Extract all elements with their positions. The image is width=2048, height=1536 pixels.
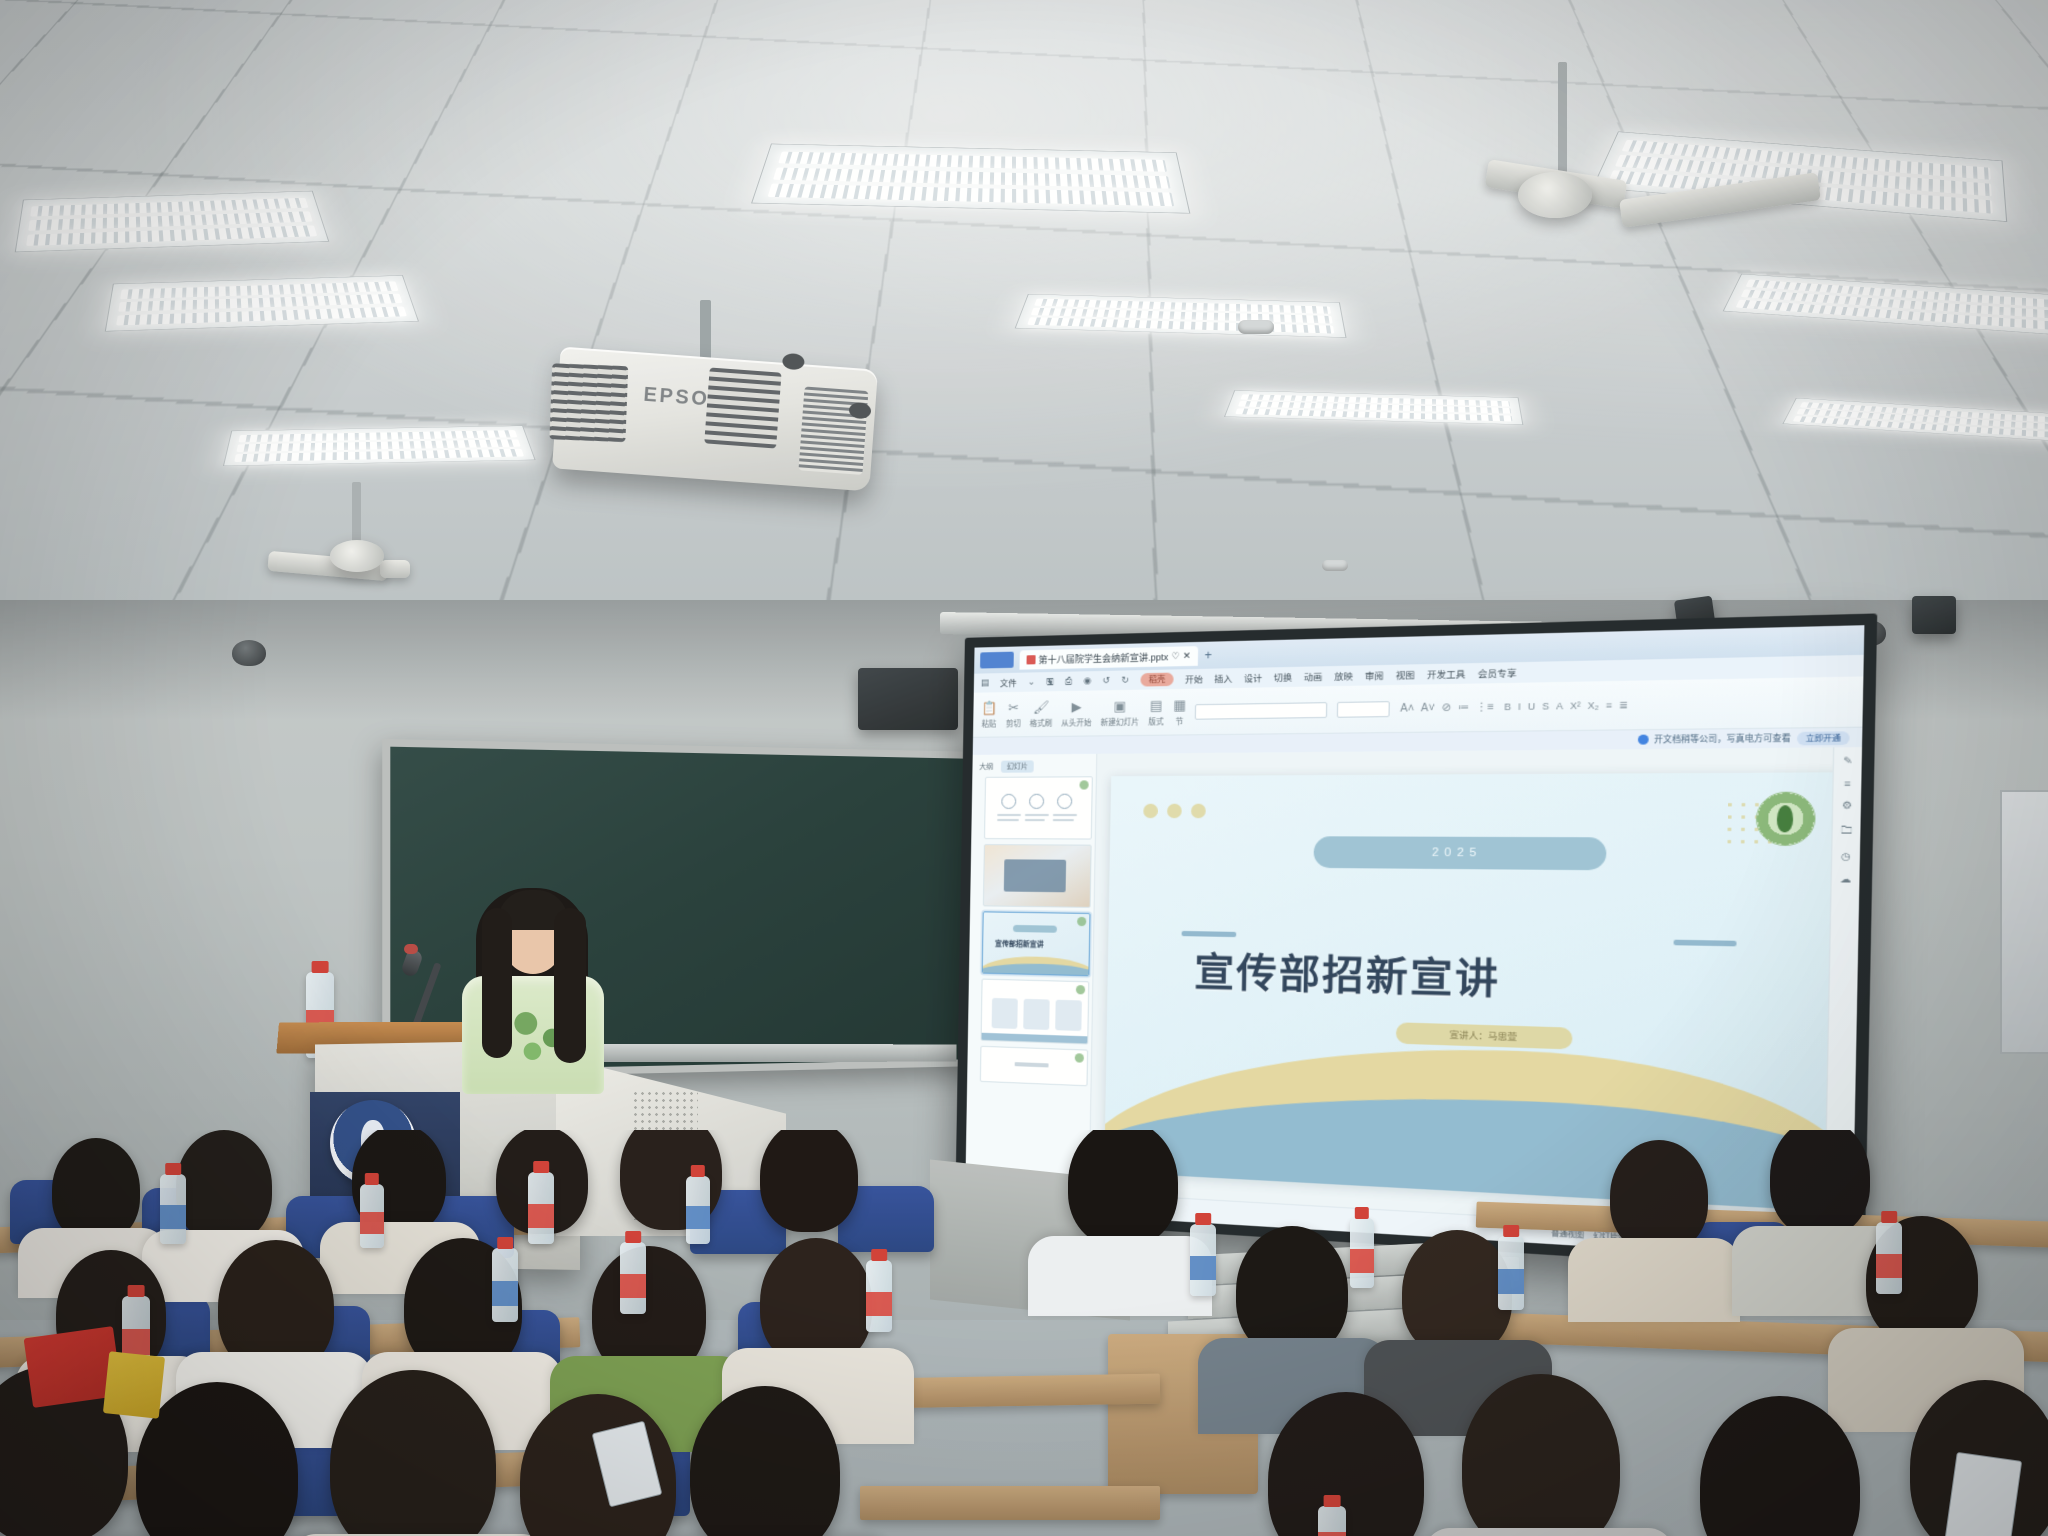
ribbon-paste[interactable]: 📋 粘贴 xyxy=(981,700,997,729)
audience-head-2 xyxy=(176,1130,272,1242)
audience-head-24 xyxy=(1462,1374,1620,1536)
thumbnail-pane-header: 大纲 幻灯片 xyxy=(975,758,1093,777)
menu-item-5[interactable]: 动画 xyxy=(1304,670,1323,683)
microphone-windscreen xyxy=(404,944,418,954)
heart-icon[interactable]: ♡ xyxy=(1171,650,1180,662)
bottle-cap-8 xyxy=(1195,1213,1211,1225)
thumb-col-2 xyxy=(1023,999,1049,1030)
new-tab-button[interactable]: + xyxy=(1204,648,1212,663)
menu-item-1[interactable]: 开始 xyxy=(1185,672,1203,685)
bottle-label-11 xyxy=(1876,1254,1902,1278)
bottle-label-8 xyxy=(1190,1256,1216,1280)
thumb-shape-a xyxy=(1001,794,1016,809)
align-left-icon[interactable]: ≡ xyxy=(1606,700,1612,711)
bullet-list-icon[interactable]: ≔ xyxy=(1458,701,1470,713)
tablet-front-desk[interactable] xyxy=(1944,1452,2022,1536)
thumb-logo-icon-10 xyxy=(1076,985,1085,994)
bottle-label-3 xyxy=(528,1204,554,1228)
ribbon-section[interactable]: ▦ 节 xyxy=(1173,697,1186,727)
pen-icon[interactable]: ✎ xyxy=(1843,755,1853,768)
folder-icon[interactable]: 🗀 xyxy=(1841,822,1853,840)
underline-button[interactable]: U xyxy=(1528,701,1536,712)
bottle-cap-7 xyxy=(128,1285,145,1297)
projector: EPSON xyxy=(552,347,878,492)
leaf-shape xyxy=(1777,805,1794,832)
clock-icon[interactable]: ◷ xyxy=(1841,851,1851,864)
notice-text: 开文档稍等公司，写真电方可查看 xyxy=(1654,732,1791,746)
ribbon-play-label: 从头开始 xyxy=(1061,717,1091,729)
bold-button[interactable]: B xyxy=(1504,701,1511,712)
subscript-button[interactable]: X₂ xyxy=(1588,700,1599,711)
bottle-label-10 xyxy=(1498,1269,1524,1294)
superscript-button[interactable]: X² xyxy=(1570,700,1581,711)
print-icon[interactable]: ⎙ xyxy=(1065,676,1072,687)
thumb-pill xyxy=(1013,925,1057,933)
ceiling-fan-hub-right xyxy=(1518,172,1592,218)
close-icon[interactable]: ✕ xyxy=(1183,650,1191,662)
info-icon xyxy=(1637,735,1648,745)
audience-torso-7 xyxy=(1028,1236,1212,1316)
water-bottle-3 xyxy=(528,1172,554,1244)
fan-blade-l2 xyxy=(380,560,410,578)
water-bottle-9 xyxy=(1350,1218,1374,1288)
thumb-shape-c xyxy=(1057,794,1072,809)
school-emblem-icon xyxy=(1755,792,1815,846)
water-bottle-2 xyxy=(360,1184,384,1248)
cloud-icon[interactable]: ☁ xyxy=(1840,873,1852,886)
water-bottle-4 xyxy=(686,1176,710,1244)
thumb-line-5 xyxy=(1053,814,1077,816)
strikethrough-button[interactable]: S xyxy=(1542,701,1549,712)
section-icon: ▦ xyxy=(1173,697,1186,714)
bottle-label-4 xyxy=(686,1206,710,1229)
font-color-button[interactable]: A xyxy=(1556,701,1563,712)
water-bottle-11 xyxy=(1876,1222,1902,1294)
thumb-line-2 xyxy=(997,819,1019,821)
title-dash-right xyxy=(1674,940,1737,947)
projector-foot-1 xyxy=(782,353,805,371)
wall-notice-board xyxy=(2000,790,2048,1054)
audience-area xyxy=(0,1130,2048,1536)
classroom-photo-scene: EPSON 第十八届院学生会纳新宣讲.pptx ♡ ✕ xyxy=(0,0,2048,1536)
increase-font-icon[interactable]: A˄ xyxy=(1400,702,1414,714)
ceiling-fan-hub-left xyxy=(330,540,384,572)
save-icon[interactable]: 🖫 xyxy=(1046,673,1054,689)
ribbon-layout[interactable]: ▤ 版式 xyxy=(1148,697,1164,727)
gear-icon[interactable]: ⚙ xyxy=(1842,800,1852,813)
slide-subtitle: 宣讲人：马思萱 xyxy=(1395,1022,1572,1049)
file-menu-icon[interactable]: ▤ xyxy=(981,677,990,688)
ribbon-brush-label: 格式刷 xyxy=(1030,717,1053,728)
ribbon-cut-label: 剪切 xyxy=(1006,718,1021,729)
projector-vent-mid xyxy=(704,367,781,448)
ribbon-new-slide[interactable]: ▣ 新建幻灯片 xyxy=(1100,697,1139,727)
outline-tab[interactable]: 大纲 xyxy=(979,762,993,772)
layout-icon: ▤ xyxy=(1150,697,1163,714)
presenter-hair-left xyxy=(482,908,512,1058)
bottle-label-7 xyxy=(122,1329,150,1355)
font-name-input[interactable] xyxy=(1195,702,1328,720)
menu-item-10[interactable]: 开发工具 xyxy=(1427,667,1466,681)
document-tab-title: 第十八届院学生会纳新宣讲.pptx xyxy=(1038,649,1168,665)
slide-decor-dots xyxy=(1143,803,1206,818)
audience-head-9 xyxy=(1770,1130,1870,1236)
bottle-label-5 xyxy=(620,1274,646,1298)
bottle-cap-10 xyxy=(1503,1225,1519,1237)
bottle-cap-12 xyxy=(871,1249,887,1261)
thumb-line-11 xyxy=(1015,1062,1049,1067)
menu-item-2[interactable]: 插入 xyxy=(1214,672,1232,685)
menu-item-0[interactable]: 文件 xyxy=(1000,676,1017,688)
bottle-cap-3 xyxy=(533,1161,549,1173)
thumb-quote-box xyxy=(1004,859,1066,892)
bottle-cap-11 xyxy=(1881,1211,1897,1223)
ribbon-layout-label: 版式 xyxy=(1148,716,1164,728)
print-preview-icon[interactable]: ◉ xyxy=(1083,675,1091,686)
bottle-cap-1 xyxy=(165,1163,181,1175)
bottle-label-1 xyxy=(160,1205,186,1229)
year-badge: 2025 xyxy=(1313,836,1606,870)
water-bottle-5 xyxy=(620,1242,646,1314)
clipboard-icon: 📋 xyxy=(981,700,997,716)
number-list-icon[interactable]: ⋮≡ xyxy=(1476,701,1494,713)
redo-icon[interactable]: ↻ xyxy=(1121,674,1129,685)
bottle-cap-6 xyxy=(497,1237,513,1249)
bottle-cap-5 xyxy=(625,1231,641,1243)
title-dash-left xyxy=(1181,931,1236,937)
wps-logo xyxy=(980,652,1014,669)
docer-button[interactable]: 稻壳 xyxy=(1140,673,1173,687)
ceiling-light-1 xyxy=(15,191,330,253)
new-slide-icon: ▣ xyxy=(1114,698,1127,715)
water-bottle-13 xyxy=(1318,1506,1346,1536)
audience-torso-8 xyxy=(1568,1238,1740,1322)
ribbon-brush[interactable]: 🖌 格式刷 xyxy=(1030,699,1053,729)
projector-vent-left xyxy=(549,363,628,442)
thumb-line-1 xyxy=(997,814,1021,816)
pptx-file-icon xyxy=(1027,655,1036,664)
slide-title: 宣传部招新宣讲 xyxy=(1194,940,1501,1005)
water-bottle-12 xyxy=(866,1260,892,1332)
thumb-logo-icon xyxy=(1079,780,1088,789)
audience-head-6 xyxy=(760,1130,858,1232)
desk-row-5 xyxy=(860,1486,1160,1520)
scissors-icon: ✂ xyxy=(1008,699,1019,715)
wall-speaker-far-right xyxy=(1912,596,1956,634)
presenter xyxy=(460,880,606,1090)
menu-item-8[interactable]: 视图 xyxy=(1396,668,1415,681)
thumbnail-slide-9[interactable]: 9 宣传部招新宣讲 xyxy=(982,911,1091,976)
menu-item-3[interactable]: 设计 xyxy=(1244,671,1262,684)
align-center-icon[interactable]: ≣ xyxy=(1619,699,1628,711)
ribbon-cut[interactable]: ✂ 剪切 xyxy=(1006,699,1021,728)
ceiling-fan-rod-left xyxy=(352,482,361,544)
water-bottle-6 xyxy=(492,1248,518,1322)
thumb-title-text: 宣传部招新宣讲 xyxy=(995,939,1044,950)
presenter-hair-right xyxy=(554,908,586,1063)
decrease-font-icon[interactable]: A˅ xyxy=(1421,702,1435,714)
wall-speaker-left xyxy=(858,668,958,730)
clear-format-icon[interactable]: ⊘ xyxy=(1441,702,1451,714)
bottle-label-9 xyxy=(1350,1249,1374,1273)
water-bottle-10 xyxy=(1498,1236,1524,1310)
thumbnail-slide-10[interactable]: 10 xyxy=(981,979,1090,1045)
bottle-cap xyxy=(312,961,329,973)
menu-item-11[interactable]: 会员专享 xyxy=(1478,666,1517,680)
water-bottle-1 xyxy=(160,1174,186,1244)
bottle-label-2 xyxy=(360,1212,384,1234)
menu-item-6[interactable]: 放映 xyxy=(1334,669,1353,682)
ribbon-newslide-label: 新建幻灯片 xyxy=(1100,716,1139,728)
water-bottle-8 xyxy=(1190,1224,1216,1296)
projector-vent-right xyxy=(798,386,868,474)
thumb-line-3 xyxy=(1025,814,1049,816)
thumb-col-1 xyxy=(992,998,1018,1029)
thumb-shape-b xyxy=(1029,794,1044,809)
list-icon[interactable]: ≡ xyxy=(1844,778,1851,789)
thumb-bottom-band xyxy=(982,1033,1088,1044)
bottle-label-12 xyxy=(866,1292,892,1316)
thumbnail-slide-8[interactable]: 8 xyxy=(983,844,1092,908)
slides-tab[interactable]: 幻灯片 xyxy=(1001,760,1034,772)
audience-head-1 xyxy=(52,1138,140,1242)
menu-item-7[interactable]: 审阅 xyxy=(1365,669,1384,682)
document-tab[interactable]: 第十八届院学生会纳新宣讲.pptx ♡ ✕ xyxy=(1019,646,1198,670)
thumbnail-slide-7[interactable]: 7 xyxy=(984,776,1093,839)
menu-item-4[interactable]: 切换 xyxy=(1274,671,1292,684)
desk-row-3 xyxy=(880,1374,1160,1409)
ceiling-light-4 xyxy=(751,144,1190,214)
audience-head-15 xyxy=(1236,1226,1348,1356)
snack-pack-yellow xyxy=(103,1351,165,1419)
audience-head-16 xyxy=(1402,1230,1512,1356)
audience-head-14 xyxy=(760,1238,872,1366)
chevron-down-icon[interactable]: ⌄ xyxy=(1028,676,1036,687)
ribbon-section-label: 节 xyxy=(1175,715,1183,726)
bottle-cap-4 xyxy=(691,1165,705,1177)
smoke-detector-1 xyxy=(1238,320,1274,334)
audience-torso-24 xyxy=(1424,1528,1674,1536)
slide-thumbnail-pane[interactable]: 大纲 幻灯片 7 xyxy=(965,754,1097,1193)
thumb-col-3 xyxy=(1055,1000,1082,1031)
italic-button[interactable]: I xyxy=(1518,701,1521,712)
ceiling-light-3 xyxy=(223,426,536,467)
bottle-label-6 xyxy=(492,1281,518,1306)
thumbnail-slide-11[interactable]: 11 xyxy=(980,1046,1088,1087)
ribbon-paste-label: 粘贴 xyxy=(982,718,997,729)
thumb-logo-icon-9 xyxy=(1077,917,1086,926)
audience-head-8 xyxy=(1610,1140,1708,1252)
bottle-label-13 xyxy=(1318,1532,1346,1536)
thumb-line-4 xyxy=(1025,819,1045,821)
thumb-logo-icon-11 xyxy=(1075,1053,1084,1062)
smoke-detector-2 xyxy=(1322,560,1348,571)
font-size-input[interactable] xyxy=(1337,701,1390,718)
notice-action-button[interactable]: 立即开通 xyxy=(1797,731,1850,745)
bottle-cap-9 xyxy=(1355,1207,1369,1219)
bottle-cap-13 xyxy=(1324,1495,1341,1507)
brush-icon: 🖌 xyxy=(1033,699,1050,715)
ribbon-play[interactable]: ▶ 从头开始 xyxy=(1061,698,1092,728)
cctv-dome-left xyxy=(232,640,266,666)
ceiling-fan-rod-right xyxy=(1558,62,1567,180)
audience-head-7 xyxy=(1068,1130,1178,1246)
play-icon: ▶ xyxy=(1071,698,1081,714)
bottle-cap-2 xyxy=(365,1173,379,1185)
undo-icon[interactable]: ↺ xyxy=(1102,675,1110,686)
thumb-line-6 xyxy=(1053,819,1074,821)
